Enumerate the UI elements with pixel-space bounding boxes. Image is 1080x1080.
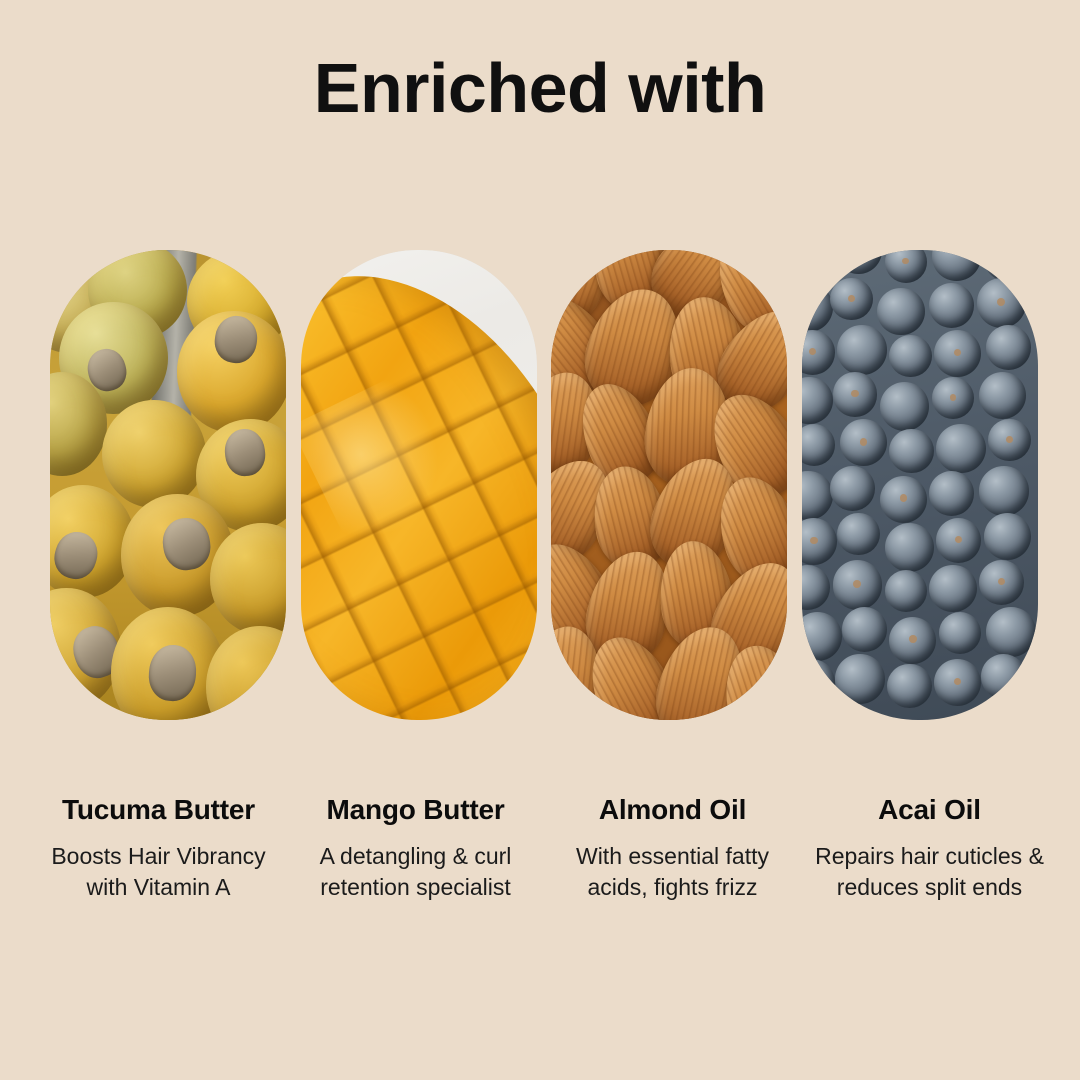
ingredient-description: Repairs hair cuticles & reduces split en… (807, 841, 1052, 903)
page-title: Enriched with (0, 48, 1080, 128)
ingredient-description: With essential fatty acids, fights frizz (550, 841, 795, 903)
ingredient-label-tucuma: Tucuma Butter Boosts Hair Vibrancy with … (30, 793, 287, 903)
ingredient-name: Mango Butter (293, 793, 538, 827)
enriched-with-panel: Enriched with (0, 0, 1080, 1080)
ingredient-description: A detangling & curl retention specialist (293, 841, 538, 903)
ingredient-card-mango (301, 250, 537, 720)
ingredient-label-row: Tucuma Butter Boosts Hair Vibrancy with … (30, 793, 1058, 903)
acai-berries-photo (802, 250, 1038, 720)
ingredient-name: Acai Oil (807, 793, 1052, 827)
almonds-photo (551, 250, 787, 720)
ingredient-name: Almond Oil (550, 793, 795, 827)
ingredient-description: Boosts Hair Vibrancy with Vitamin A (36, 841, 281, 903)
cubed-mango-photo (301, 250, 537, 720)
ingredient-card-acai (802, 250, 1038, 720)
ingredient-label-almond: Almond Oil With essential fatty acids, f… (544, 793, 801, 903)
ingredient-card-almond (551, 250, 787, 720)
ingredient-label-acai: Acai Oil Repairs hair cuticles & reduces… (801, 793, 1058, 903)
ingredient-image-row (50, 250, 1038, 720)
tucuma-fruit-photo (50, 250, 286, 720)
ingredient-name: Tucuma Butter (36, 793, 281, 827)
ingredient-card-tucuma (50, 250, 286, 720)
ingredient-label-mango: Mango Butter A detangling & curl retenti… (287, 793, 544, 903)
